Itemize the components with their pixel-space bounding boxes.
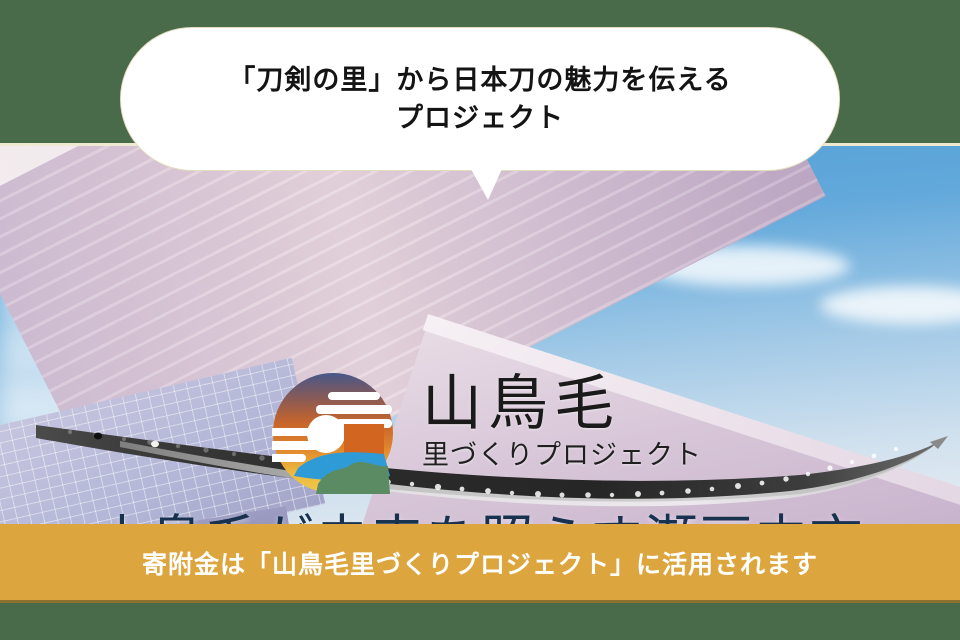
promotional-banner: 山鳥毛 里づくりプロジェクト 山鳥毛が未来を照らす瀬戸内市 「刀剣の里」から日本… [0,0,960,640]
donation-banner: 寄附金は「山鳥毛里づくりプロジェクト」に活用されます [0,524,960,602]
donation-banner-text: 寄附金は「山鳥毛里づくりプロジェクト」に活用されます [142,545,818,581]
banner-bottom-rule [0,600,960,603]
logo-title: 山鳥毛 [422,372,712,436]
speech-bubble-tail [466,160,508,200]
speech-bubble: 「刀剣の里」から日本刀の魅力を伝える プロジェクト [120,27,840,171]
cloud-shape [820,286,960,324]
footer-green-bar [0,603,960,640]
yamatorige-logo: 山鳥毛 里づくりプロジェクト [272,372,712,494]
museum-photo: 山鳥毛 里づくりプロジェクト 山鳥毛が未来を照らす瀬戸内市 [0,146,960,524]
page-title: 山鳥毛が未来を照らす瀬戸内市 [0,512,960,524]
speech-bubble-line-2: プロジェクト [228,99,731,137]
sunset-mountain-water-emblem [272,372,394,494]
logo-text-block: 山鳥毛 里づくりプロジェクト [422,372,712,494]
speech-bubble-line-1: 「刀剣の里」から日本刀の魅力を伝える [228,61,731,99]
logo-subtitle: 里づくりプロジェクト [422,438,712,472]
speech-bubble-text: 「刀剣の里」から日本刀の魅力を伝える プロジェクト [228,61,731,137]
